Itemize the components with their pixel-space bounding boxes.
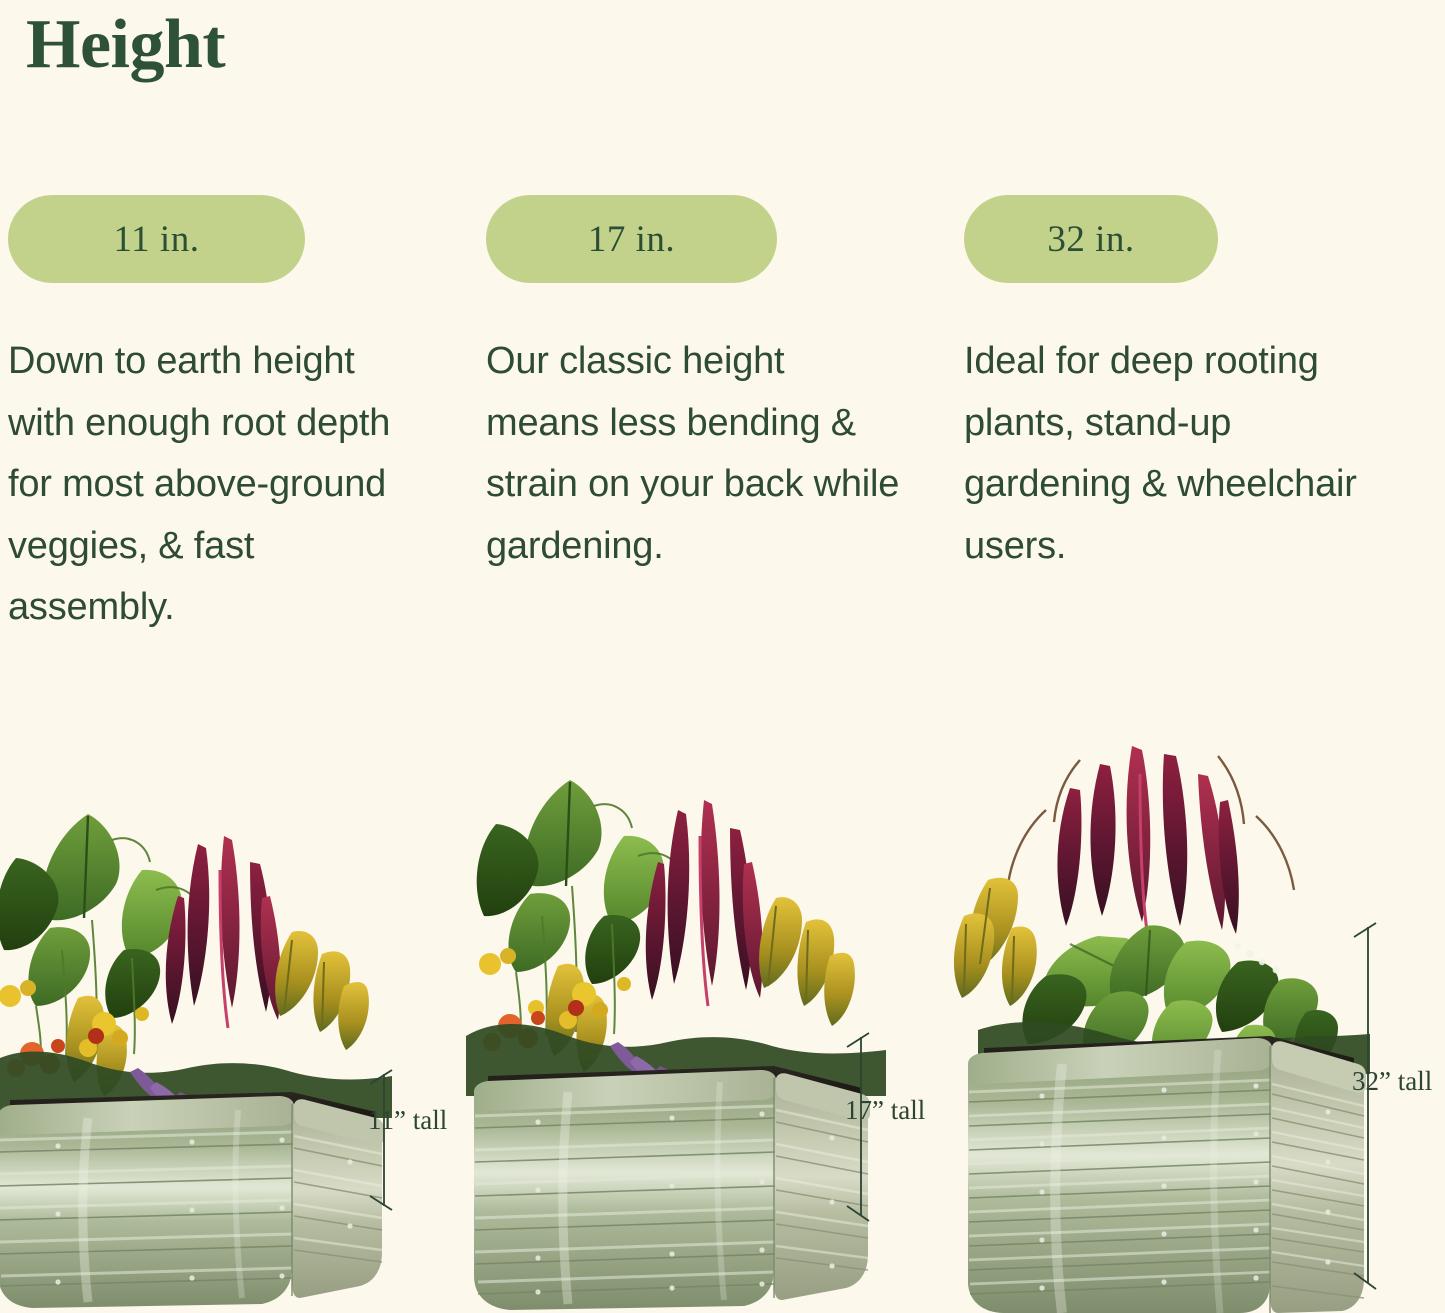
height-option-column-17in: 17 in. Our classic height means less ben…: [478, 195, 956, 639]
height-badge-17in[interactable]: 17 in.: [486, 195, 777, 283]
dimension-arrow-11in: [368, 1070, 398, 1215]
dimension-label-32in: 32” tall: [1352, 1066, 1432, 1097]
height-badge-32in[interactable]: 32 in.: [964, 195, 1218, 283]
planter-body: [968, 1038, 1366, 1313]
product-figure-32in[interactable]: [950, 730, 1370, 1313]
height-options-grid: 11 in. Down to earth height with enough …: [0, 195, 1445, 639]
dimension-callout-11in: 11” tall: [368, 1070, 398, 1215]
height-description-17in: Our classic height means less bending & …: [486, 331, 904, 577]
plant-foliage: [466, 780, 886, 1096]
dimension-arrow-32in: [1352, 923, 1382, 1293]
height-description-32in: Ideal for deep rooting plants, stand-up …: [964, 331, 1382, 577]
product-figure-17in[interactable]: [466, 770, 886, 1313]
planter-body: [0, 1096, 384, 1308]
dimension-arrow-17in: [845, 1033, 875, 1225]
height-description-11in: Down to earth height with enough root de…: [8, 331, 426, 639]
height-option-column-11in: 11 in. Down to earth height with enough …: [0, 195, 478, 639]
plant-foliage: [0, 814, 392, 1118]
height-badge-11in[interactable]: 11 in.: [8, 195, 305, 283]
dimension-label-11in: 11” tall: [368, 1105, 447, 1136]
plant-foliage: [954, 746, 1370, 1082]
planter-body: [474, 1070, 870, 1310]
height-option-column-32in: 32 in. Ideal for deep rooting plants, st…: [956, 195, 1434, 639]
product-figure-11in[interactable]: [0, 800, 392, 1313]
dimension-callout-17in: 17” tall: [845, 1033, 875, 1225]
dimension-callout-32in: 32” tall: [1352, 923, 1382, 1293]
page-title: Height: [26, 6, 225, 83]
dimension-label-17in: 17” tall: [845, 1095, 925, 1126]
